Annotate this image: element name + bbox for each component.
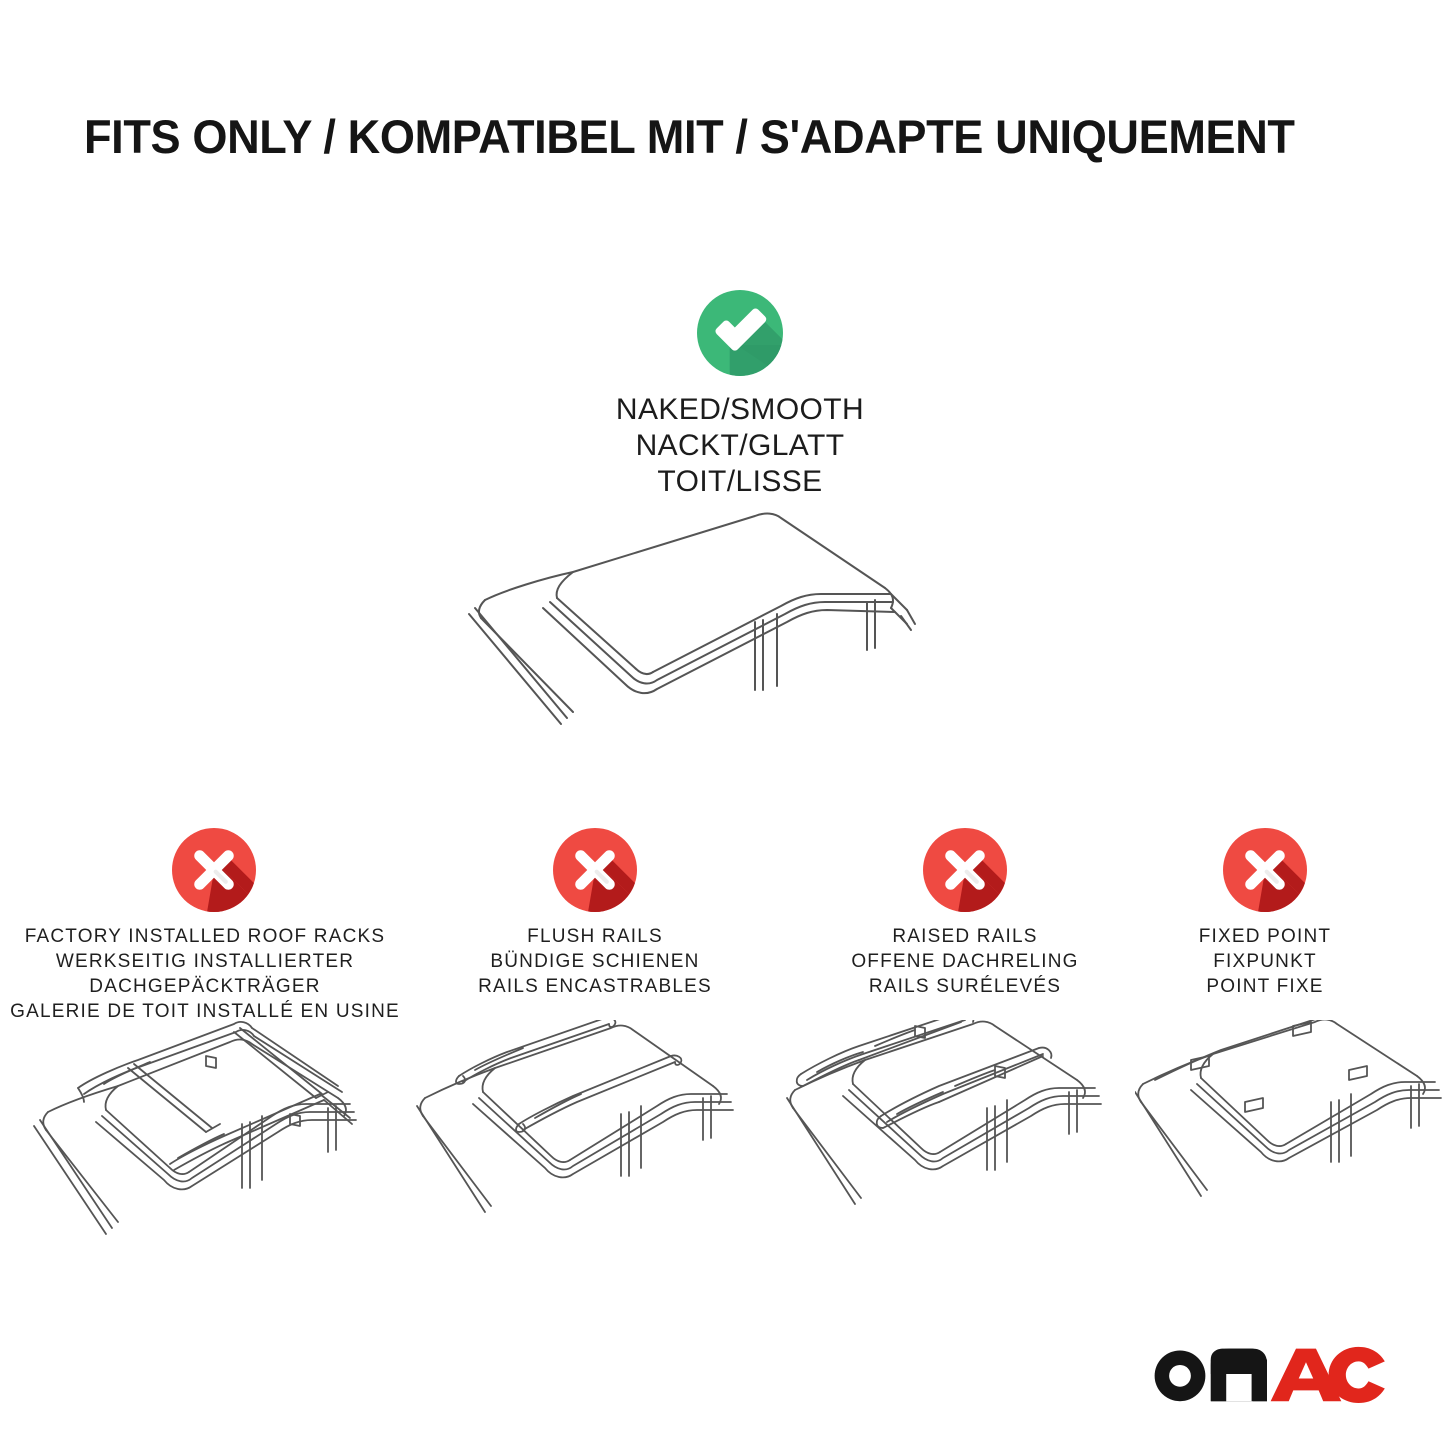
compatible-label: NAKED/SMOOTH NACKT/GLATT TOIT/LISSE [490, 392, 990, 500]
raised-rails-illustration [785, 1020, 1175, 1270]
smooth-roof-illustration [455, 490, 1015, 760]
flush-rails-illustration [415, 1020, 805, 1270]
label-line-2: BÜNDIGE SCHIENEN [425, 949, 765, 974]
label-line-2: FIXPUNKT [1150, 949, 1380, 974]
label-line-1: FLUSH RAILS [425, 924, 765, 949]
incompatible-column-fixed-point: FIXED POINT FIXPUNKT POINT FIXE [1150, 828, 1380, 999]
incompatible-column-flush-rails: FLUSH RAILS BÜNDIGE SCHIENEN RAILS ENCAS… [425, 828, 765, 999]
page-title: FITS ONLY / KOMPATIBEL MIT / S'ADAPTE UN… [84, 108, 1322, 166]
incompatible-column-raised-rails: RAISED RAILS OFFENE DACHRELING RAILS SUR… [800, 828, 1130, 999]
label-line-2: OFFENE DACHRELING [800, 949, 1130, 974]
label-line-3: RAILS SURÉLEVÉS [800, 974, 1130, 999]
incompatible-label-flush-rails: FLUSH RAILS BÜNDIGE SCHIENEN RAILS ENCAS… [425, 924, 765, 999]
label-line-1: FIXED POINT [1150, 924, 1380, 949]
label-line-2: WERKSEITIG INSTALLIERTER [10, 949, 400, 974]
label-line-3: POINT FIXE [1150, 974, 1380, 999]
label-line-1: RAISED RAILS [800, 924, 1130, 949]
omac-logo [1151, 1341, 1387, 1403]
label-line-3: RAILS ENCASTRABLES [425, 974, 765, 999]
compatible-label-line-1: NAKED/SMOOTH [490, 392, 990, 428]
cross-circle-icon [1223, 828, 1307, 912]
compatible-label-line-2: NACKT/GLATT [490, 428, 990, 464]
check-circle-icon [697, 290, 783, 376]
label-line-3: DACHGEPÄCKTRÄGER [10, 974, 400, 999]
incompatible-label-factory-roof-racks: FACTORY INSTALLED ROOF RACKS WERKSEITIG … [10, 924, 400, 1024]
incompatible-label-fixed-point: FIXED POINT FIXPUNKT POINT FIXE [1150, 924, 1380, 999]
factory-roof-rack-illustration [20, 1020, 410, 1270]
cross-circle-icon [923, 828, 1007, 912]
cross-circle-icon [172, 828, 256, 912]
cross-circle-icon [553, 828, 637, 912]
label-line-1: FACTORY INSTALLED ROOF RACKS [10, 924, 400, 949]
compatible-section: NAKED/SMOOTH NACKT/GLATT TOIT/LISSE [490, 290, 990, 500]
incompatible-label-raised-rails: RAISED RAILS OFFENE DACHRELING RAILS SUR… [800, 924, 1130, 999]
fixed-point-illustration [1135, 1020, 1445, 1270]
incompatible-column-factory-roof-racks: FACTORY INSTALLED ROOF RACKS WERKSEITIG … [10, 828, 400, 1024]
